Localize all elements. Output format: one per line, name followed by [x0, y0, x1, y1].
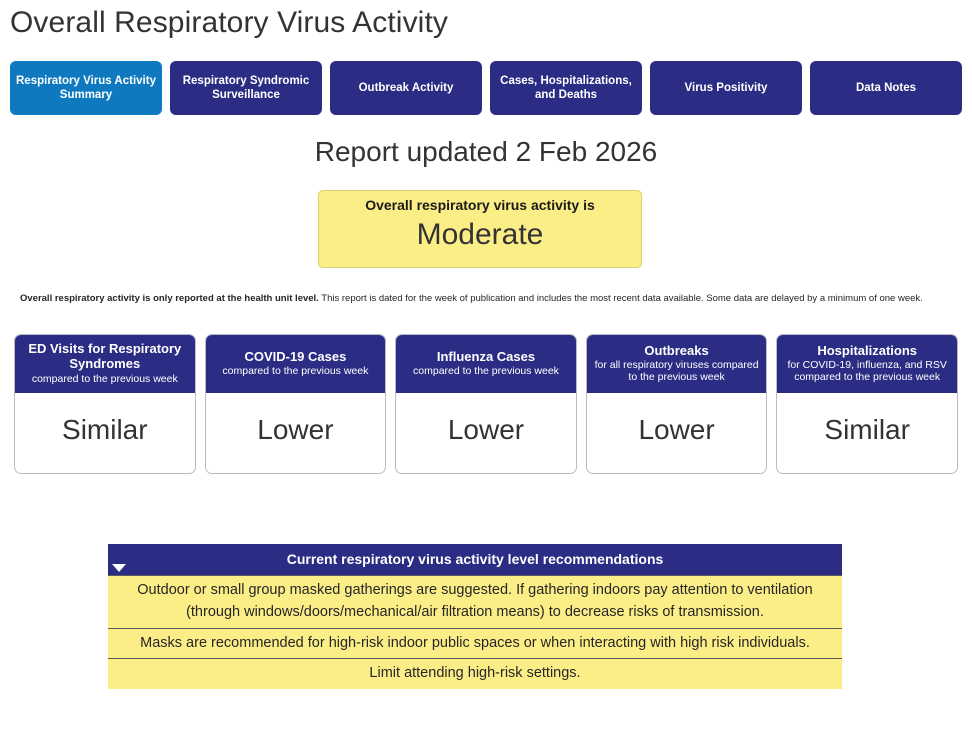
metric-card-subtitle: for all respiratory viruses compared to …	[591, 359, 763, 383]
metric-card-title: ED Visits for Respiratory Syndromes	[19, 342, 191, 371]
metric-card-header: ED Visits for Respiratory Syndromes comp…	[15, 335, 195, 393]
tab-data-notes[interactable]: Data Notes	[810, 61, 962, 115]
tab-label: Cases, Hospitalizations, and Deaths	[496, 74, 636, 103]
page-title: Overall Respiratory Virus Activity	[10, 6, 448, 40]
metric-card-row: ED Visits for Respiratory Syndromes comp…	[14, 334, 958, 474]
recommendations-header: Current respiratory virus activity level…	[108, 544, 842, 575]
metric-card-value: Lower	[396, 393, 576, 473]
metric-card-header: Influenza Cases compared to the previous…	[396, 335, 576, 393]
tab-label: Respiratory Syndromic Surveillance	[176, 74, 316, 103]
metric-card-header: COVID-19 Cases compared to the previous …	[206, 335, 386, 393]
metric-card-subtitle: compared to the previous week	[19, 373, 191, 385]
tab-cases-hospitalizations-and-deaths[interactable]: Cases, Hospitalizations, and Deaths	[490, 61, 642, 115]
tab-label: Virus Positivity	[685, 81, 768, 95]
overall-activity-callout: Overall respiratory virus activity is Mo…	[318, 190, 642, 268]
recommendations-header-label: Current respiratory virus activity level…	[287, 551, 664, 567]
recommendation-row: Outdoor or small group masked gatherings…	[108, 575, 842, 628]
metric-card-value: Lower	[206, 393, 386, 473]
metric-card-header: Outbreaks for all respiratory viruses co…	[587, 335, 767, 393]
metric-card-hospitalizations: Hospitalizations for COVID-19, influenza…	[776, 334, 958, 474]
tab-label: Respiratory Virus Activity Summary	[16, 74, 156, 103]
metric-card-value: Similar	[15, 393, 195, 473]
recommendation-row: Masks are recommended for high-risk indo…	[108, 628, 842, 658]
metric-card-influenza-cases: Influenza Cases compared to the previous…	[395, 334, 577, 474]
tab-respiratory-virus-activity-summary[interactable]: Respiratory Virus Activity Summary	[10, 61, 162, 115]
tab-outbreak-activity[interactable]: Outbreak Activity	[330, 61, 482, 115]
metric-card-subtitle: compared to the previous week	[210, 365, 382, 377]
metric-card-subtitle: compared to the previous week	[400, 365, 572, 377]
metric-card-title: Influenza Cases	[400, 350, 572, 365]
overall-activity-value: Moderate	[319, 216, 641, 254]
fine-print-body: This report is dated for the week of pub…	[319, 293, 923, 304]
metric-card-title: Hospitalizations	[781, 344, 953, 359]
metric-card-ed-visits: ED Visits for Respiratory Syndromes comp…	[14, 334, 196, 474]
overall-activity-label: Overall respiratory virus activity is	[319, 197, 641, 214]
tab-label: Data Notes	[856, 81, 916, 95]
tab-respiratory-syndromic-surveillance[interactable]: Respiratory Syndromic Surveillance	[170, 61, 322, 115]
fine-print-note: Overall respiratory activity is only rep…	[20, 292, 940, 306]
metric-card-subtitle: for COVID-19, influenza, and RSV compare…	[781, 359, 953, 383]
tab-strip: Respiratory Virus Activity Summary Respi…	[10, 61, 962, 115]
metric-card-header: Hospitalizations for COVID-19, influenza…	[777, 335, 957, 393]
metric-card-title: Outbreaks	[591, 344, 763, 359]
report-updated-text: Report updated 2 Feb 2026	[0, 136, 972, 168]
recommendation-row: Limit attending high-risk settings.	[108, 658, 842, 688]
metric-card-title: COVID-19 Cases	[210, 350, 382, 365]
metric-card-covid-19-cases: COVID-19 Cases compared to the previous …	[205, 334, 387, 474]
tab-label: Outbreak Activity	[359, 81, 454, 95]
fine-print-lead: Overall respiratory activity is only rep…	[20, 293, 319, 304]
metric-card-value: Similar	[777, 393, 957, 473]
metric-card-value: Lower	[587, 393, 767, 473]
tab-virus-positivity[interactable]: Virus Positivity	[650, 61, 802, 115]
chevron-down-icon[interactable]	[112, 564, 126, 572]
metric-card-outbreaks: Outbreaks for all respiratory viruses co…	[586, 334, 768, 474]
recommendations-table: Current respiratory virus activity level…	[108, 544, 842, 689]
